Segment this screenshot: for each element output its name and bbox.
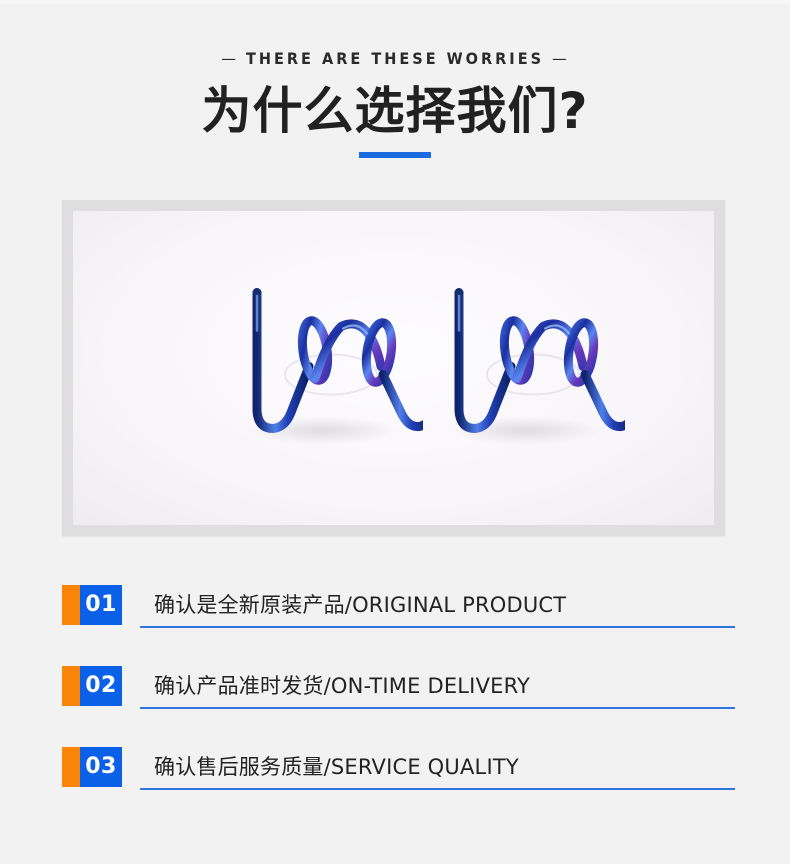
feature-divider: [140, 788, 735, 790]
eyebrow-dash-right: —: [552, 51, 569, 68]
list-item[interactable]: 03 确认售后服务质量/SERVICE QUALITY: [62, 747, 735, 787]
header-eyebrow: — THERE ARE THESE WORRIES —: [0, 48, 790, 72]
badge-accent-strip: [62, 747, 80, 787]
product-image-frame: [62, 200, 725, 536]
badge-number: 02: [80, 666, 122, 706]
list-item[interactable]: 02 确认产品准时发货/ON-TIME DELIVERY: [62, 666, 735, 706]
feature-divider: [140, 626, 735, 628]
top-edge-strip: [0, 0, 790, 4]
photo-backdrop: [73, 211, 714, 525]
feature-list: 01 确认是全新原装产品/ORIGINAL PRODUCT 02 确认产品准时发…: [62, 585, 735, 828]
promo-banner-page: — THERE ARE THESE WORRIES — 为什么选择我们?: [0, 0, 790, 864]
feature-label: 确认售后服务质量/SERVICE QUALITY: [154, 747, 519, 787]
feature-divider: [140, 707, 735, 709]
spring-left: [223, 271, 423, 466]
feature-label: 确认产品准时发货/ON-TIME DELIVERY: [154, 666, 530, 706]
badge-number: 03: [80, 747, 122, 787]
eyebrow-label: THERE ARE THESE WORRIES: [246, 51, 544, 68]
title-underline-bar: [359, 152, 431, 158]
badge-accent-strip: [62, 585, 80, 625]
list-item[interactable]: 01 确认是全新原装产品/ORIGINAL PRODUCT: [62, 585, 735, 625]
feature-badge-02: 02: [62, 666, 122, 706]
feature-badge-03: 03: [62, 747, 122, 787]
badge-number: 01: [80, 585, 122, 625]
product-image: [73, 211, 714, 525]
feature-label: 确认是全新原装产品/ORIGINAL PRODUCT: [154, 585, 566, 625]
page-header: — THERE ARE THESE WORRIES — 为什么选择我们?: [0, 48, 790, 140]
feature-badge-01: 01: [62, 585, 122, 625]
page-title: 为什么选择我们?: [0, 82, 790, 140]
spring-right: [425, 271, 625, 466]
eyebrow-dash-left: —: [221, 51, 238, 68]
badge-accent-strip: [62, 666, 80, 706]
